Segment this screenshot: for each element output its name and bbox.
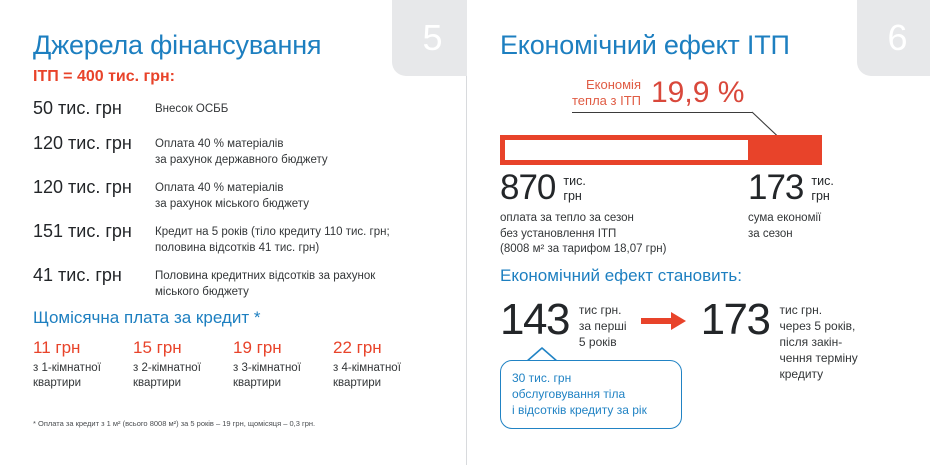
effect-unit-line: кредиту xyxy=(780,366,858,382)
bubble-line: обслуговування тіла xyxy=(512,386,670,402)
stat-unit-line: грн xyxy=(563,189,585,204)
funding-description-line: Половина кредитних відсотків за рахунок xyxy=(155,269,443,285)
monthly-payment-grid: 11 грн з 1-кімнатної квартири 15 грн з 2… xyxy=(33,338,433,391)
monthly-payment-description-line: квартири xyxy=(333,376,433,391)
stat-description: сума економії за сезон xyxy=(748,211,834,242)
effect-section-title: Економічний ефект становить: xyxy=(500,266,742,286)
monthly-payment-description: з 3-кімнатної квартири xyxy=(233,361,333,391)
stat-number: 870 xyxy=(500,170,555,206)
bubble-line: 30 тис. грн xyxy=(512,370,670,386)
stat-description-line: (8008 м² за тарифом 18,07 грн) xyxy=(500,242,666,258)
funding-description: Кредит на 5 років (тіло кредиту 110 тис.… xyxy=(155,221,443,256)
savings-label: Економія тепла з ІТП xyxy=(572,77,641,110)
stat-description-line: без установлення ІТП xyxy=(500,227,666,243)
stat-block-cost: 870 тис. грн оплата за тепло за сезон бе… xyxy=(500,170,666,258)
footnote: * Оплата за кредит з 1 м² (всього 8008 м… xyxy=(33,419,315,428)
effect-unit-line: тис грн. xyxy=(579,302,627,318)
callout-leader-line xyxy=(572,112,752,113)
savings-label-line: Економія xyxy=(572,77,641,94)
arrow-right-icon xyxy=(641,296,687,337)
effect-unit-first: тис грн. за перші 5 років xyxy=(579,296,627,350)
funding-description-line: за рахунок міського бюджету xyxy=(155,197,443,213)
monthly-payment-title: Щомісячна плата за кредит * xyxy=(33,308,260,328)
stat-unit-line: грн xyxy=(811,189,833,204)
monthly-payment-cell: 22 грн з 4-кімнатної квартири xyxy=(333,338,433,391)
effect-unit-line: 5 років xyxy=(579,334,627,350)
funding-row: 120 тис. грн Оплата 40 % матеріалів за р… xyxy=(33,133,443,168)
funding-row: 151 тис. грн Кредит на 5 років (тіло кре… xyxy=(33,221,443,256)
bubble-line: і відсотків кредиту за рік xyxy=(512,402,670,418)
funding-amount: 50 тис. грн xyxy=(33,98,153,119)
stat-description-line: за сезон xyxy=(748,227,834,243)
effect-unit-line: після закін- xyxy=(780,334,858,350)
funding-row: 50 тис. грн Внесок ОСББ xyxy=(33,98,443,124)
stat-value-row: 870 тис. грн xyxy=(500,170,666,206)
funding-description-line: за рахунок державного бюджету xyxy=(155,153,443,169)
monthly-payment-description: з 4-кімнатної квартири xyxy=(333,361,433,391)
funding-sources-list: 50 тис. грн Внесок ОСББ 120 тис. грн Опл… xyxy=(33,98,443,309)
stat-number: 173 xyxy=(748,170,803,206)
monthly-payment-amount: 11 грн xyxy=(33,338,133,358)
monthly-payment-description-line: з 2-кімнатної xyxy=(133,361,233,376)
funding-description-line: Оплата 40 % матеріалів xyxy=(155,137,443,153)
effect-unit-line: через 5 років, xyxy=(780,318,858,334)
monthly-payment-description: з 1-кімнатної квартири xyxy=(33,361,133,391)
stat-description-line: сума економії xyxy=(748,211,834,227)
stat-value-row: 173 тис. грн xyxy=(748,170,834,206)
stat-unit-line: тис. xyxy=(563,174,585,189)
funding-description-line: Оплата 40 % матеріалів xyxy=(155,181,443,197)
savings-bar xyxy=(500,135,822,165)
effect-number-second: 173 xyxy=(701,296,770,344)
savings-callout: Економія тепла з ІТП 19,9 % xyxy=(572,76,744,110)
monthly-payment-description-line: з 3-кімнатної xyxy=(233,361,333,376)
funding-description: Оплата 40 % матеріалів за рахунок місько… xyxy=(155,177,443,212)
monthly-payment-description-line: квартири xyxy=(133,376,233,391)
stat-block-savings: 173 тис. грн сума економії за сезон xyxy=(748,170,834,242)
monthly-payment-cell: 11 грн з 1-кімнатної квартири xyxy=(33,338,133,391)
funding-description: Половина кредитних відсотків за рахунок … xyxy=(155,265,443,300)
funding-description: Оплата 40 % матеріалів за рахунок держав… xyxy=(155,133,443,168)
right-panel-title: Економічний ефект ІТП xyxy=(500,30,790,61)
funding-description-line: половина відсотків 41 тис. грн) xyxy=(155,241,443,257)
monthly-payment-description-line: квартири xyxy=(233,376,333,391)
funding-amount: 120 тис. грн xyxy=(33,177,153,198)
savings-percent-value: 19,9 % xyxy=(651,76,744,110)
infographic-page: 5 6 Джерела фінансування ІТП = 400 тис. … xyxy=(0,0,930,465)
right-panel: Економічний ефект ІТП Економія тепла з І… xyxy=(467,0,930,465)
stat-description-line: оплата за тепло за сезон xyxy=(500,211,666,227)
funding-amount: 41 тис. грн xyxy=(33,265,153,286)
monthly-payment-description: з 2-кімнатної квартири xyxy=(133,361,233,391)
left-panel: Джерела фінансування ІТП = 400 тис. грн:… xyxy=(0,0,466,465)
stat-unit: тис. грн xyxy=(811,170,833,204)
itp-total-label: ІТП = 400 тис. грн: xyxy=(33,68,175,86)
stat-description: оплата за тепло за сезон без установленн… xyxy=(500,211,666,258)
funding-row: 41 тис. грн Половина кредитних відсотків… xyxy=(33,265,443,300)
monthly-payment-description-line: квартири xyxy=(33,376,133,391)
funding-description: Внесок ОСББ xyxy=(155,98,443,118)
effect-unit-line: тис грн. xyxy=(780,302,858,318)
funding-description-line: міського бюджету xyxy=(155,285,443,301)
effect-number-first: 143 xyxy=(500,296,569,344)
funding-amount: 120 тис. грн xyxy=(33,133,153,154)
funding-amount: 151 тис. грн xyxy=(33,221,153,242)
stat-unit-line: тис. xyxy=(811,174,833,189)
monthly-payment-description-line: з 1-кімнатної xyxy=(33,361,133,376)
effect-unit-line: чення терміну xyxy=(780,350,858,366)
monthly-payment-amount: 15 грн xyxy=(133,338,233,358)
funding-description-line: Кредит на 5 років (тіло кредиту 110 тис.… xyxy=(155,225,443,241)
credit-service-bubble: 30 тис. грн обслуговування тіла і відсот… xyxy=(500,360,682,429)
savings-label-line: тепла з ІТП xyxy=(572,93,641,110)
effect-unit-line: за перші xyxy=(579,318,627,334)
monthly-payment-amount: 19 грн xyxy=(233,338,333,358)
monthly-payment-amount: 22 грн xyxy=(333,338,433,358)
left-panel-title: Джерела фінансування xyxy=(33,30,321,61)
monthly-payment-cell: 15 грн з 2-кімнатної квартири xyxy=(133,338,233,391)
effect-unit-second: тис грн. через 5 років, після закін- чен… xyxy=(780,296,858,382)
monthly-payment-cell: 19 грн з 3-кімнатної квартири xyxy=(233,338,333,391)
funding-description-line: Внесок ОСББ xyxy=(155,102,443,118)
savings-bar-base-segment xyxy=(505,140,748,160)
stat-unit: тис. грн xyxy=(563,170,585,204)
monthly-payment-description-line: з 4-кімнатної xyxy=(333,361,433,376)
funding-row: 120 тис. грн Оплата 40 % матеріалів за р… xyxy=(33,177,443,212)
